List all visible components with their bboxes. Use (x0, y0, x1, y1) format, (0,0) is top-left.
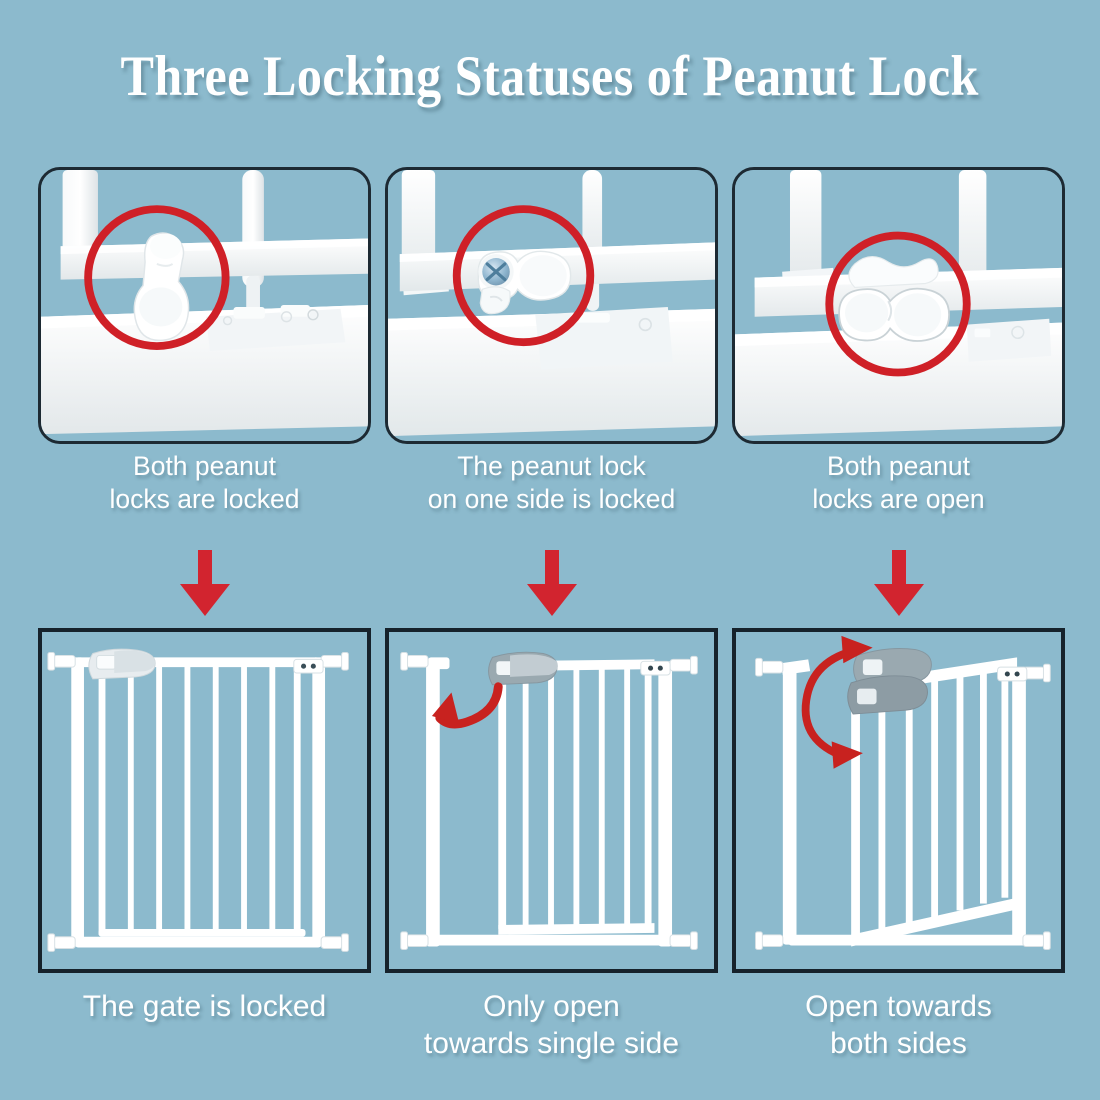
down-arrow-icon (868, 550, 930, 616)
gate-open-single-side (389, 632, 714, 969)
gate-row (0, 628, 1100, 978)
photo-panel-one-side-locked (385, 167, 718, 444)
gate-open-both-sides (736, 632, 1061, 969)
photo-row (0, 167, 1100, 452)
caption-open-both-sides: Open towards both sides (732, 988, 1065, 1062)
caption-gate-locked: The gate is locked (38, 988, 371, 1025)
peanut-lock-closeup-both-locked (41, 170, 368, 441)
top-caption-row: Both peanut locks are locked The peanut … (0, 450, 1100, 530)
gate-closed (42, 632, 367, 969)
peanut-lock-closeup-both-open (735, 170, 1062, 441)
down-arrow-icon (521, 550, 583, 616)
gate-panel-open-single (385, 628, 718, 973)
caption-both-locked: Both peanut locks are locked (38, 450, 371, 516)
gate-panel-open-both (732, 628, 1065, 973)
title-container: Three Locking Statuses of Peanut Lock (0, 46, 1100, 108)
gate-panel-closed (38, 628, 371, 973)
page-title: Three Locking Statuses of Peanut Lock (121, 46, 979, 108)
arrow-row (0, 550, 1100, 625)
caption-one-side-locked: The peanut lock on one side is locked (385, 450, 718, 516)
down-arrow-icon (174, 550, 236, 616)
photo-panel-both-locked (38, 167, 371, 444)
bottom-caption-row: The gate is locked Only open towards sin… (0, 988, 1100, 1083)
caption-open-single-side: Only open towards single side (385, 988, 718, 1062)
peanut-lock-closeup-one-side-locked (388, 170, 715, 441)
photo-panel-both-open (732, 167, 1065, 444)
caption-both-open: Both peanut locks are open (732, 450, 1065, 516)
